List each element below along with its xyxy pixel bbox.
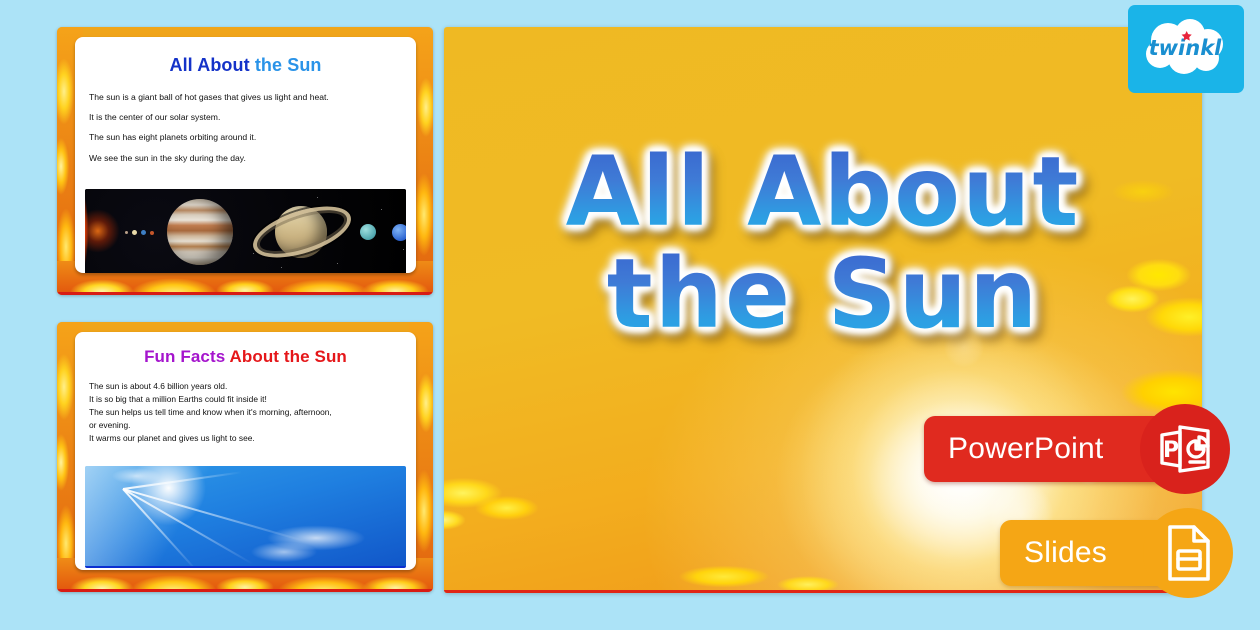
thumbnail-red-underline xyxy=(57,589,433,592)
main-title-line-1: All About xyxy=(444,145,1202,239)
powerpoint-icon-circle[interactable]: P xyxy=(1140,404,1230,494)
thumbnail-1-body: The sun is a giant ball of hot gases tha… xyxy=(75,92,416,163)
thumbnail-1-body-line-4: We see the sun in the sky during the day… xyxy=(89,153,402,164)
sun-ray xyxy=(123,488,254,565)
thumbnail-1-title-part-2: the Sun xyxy=(255,55,322,75)
slide-thumbnail-fun-facts-about-the-sun[interactable]: Fun Facts About the Sun The sun is about… xyxy=(57,322,433,592)
planet-uranus xyxy=(360,224,376,240)
planet-mars xyxy=(150,231,154,235)
slide-thumbnail-all-about-the-sun[interactable]: All About the Sun The sun is a giant bal… xyxy=(57,27,433,295)
sun-ray xyxy=(123,488,306,542)
planet-mercury xyxy=(125,231,128,234)
thumbnail-2-title-part-1: Fun Facts xyxy=(144,347,229,366)
twinkl-logo[interactable]: twinkl xyxy=(1128,5,1244,93)
slides-badge-label: Slides xyxy=(1024,536,1107,570)
thumbnail-1-body-line-3: The sun has eight planets orbiting aroun… xyxy=(89,132,402,143)
main-slide-red-underline xyxy=(444,590,1202,593)
svg-text:P: P xyxy=(1163,438,1179,463)
planet-earth xyxy=(141,230,146,235)
thumbnail-1-body-line-2: It is the center of our solar system. xyxy=(89,112,402,123)
thumbnail-2-card: Fun Facts About the Sun The sun is about… xyxy=(75,332,416,570)
main-title-slide[interactable]: All About the Sun xyxy=(444,27,1202,593)
yellow-cloud-bottom-middle xyxy=(634,511,934,591)
thumbnail-1-title: All About the Sun xyxy=(75,55,416,76)
planet-jupiter xyxy=(167,199,233,265)
solar-system-planets-photo xyxy=(85,189,406,273)
lens-flare xyxy=(944,327,984,367)
page-title: All About the Sun xyxy=(444,145,1202,341)
thumbnail-1-body-line-1: The sun is a giant ball of hot gases tha… xyxy=(89,92,402,103)
planet-neptune xyxy=(392,224,406,241)
google-slides-icon xyxy=(1162,523,1214,583)
thumbnail-2-body-line-1: The sun is about 4.6 billion years old. xyxy=(89,381,402,392)
thumbnail-2-body: The sun is about 4.6 billion years old. … xyxy=(75,381,416,444)
thumbnail-2-title-part-2: About the Sun xyxy=(229,347,346,366)
powerpoint-icon: P xyxy=(1156,421,1214,477)
planet-venus xyxy=(132,230,137,235)
thumbnail-1-title-part-1: All About xyxy=(169,55,254,75)
yellow-cloud-top-right xyxy=(1044,145,1194,235)
thumbnail-2-body-line-3: The sun helps us tell time and know when… xyxy=(89,407,402,418)
powerpoint-badge-label: PowerPoint xyxy=(948,432,1103,466)
sun-edge-glow xyxy=(85,189,97,273)
thumbnail-2-body-line-4: or evening. xyxy=(89,420,402,431)
thumbnail-1-card: All About the Sun The sun is a giant bal… xyxy=(75,37,416,273)
thumbnail-2-title: Fun Facts About the Sun xyxy=(75,347,416,367)
thumbnail-2-body-line-5: It warms our planet and gives us light t… xyxy=(89,433,402,444)
thumbnail-2-body-line-2: It is so big that a million Earths could… xyxy=(89,394,402,405)
page-root: All About the Sun The sun is a giant bal… xyxy=(0,0,1260,630)
main-title-line-2: the Sun xyxy=(444,247,1202,341)
slides-icon-circle[interactable] xyxy=(1143,508,1233,598)
sun-ray xyxy=(123,471,242,490)
thumbnail-red-underline xyxy=(57,292,433,295)
yellow-cloud-bottom-left xyxy=(444,415,652,565)
twinkl-cloud-icon: twinkl xyxy=(1138,18,1234,80)
blue-sky-with-sun-photo xyxy=(85,466,406,568)
